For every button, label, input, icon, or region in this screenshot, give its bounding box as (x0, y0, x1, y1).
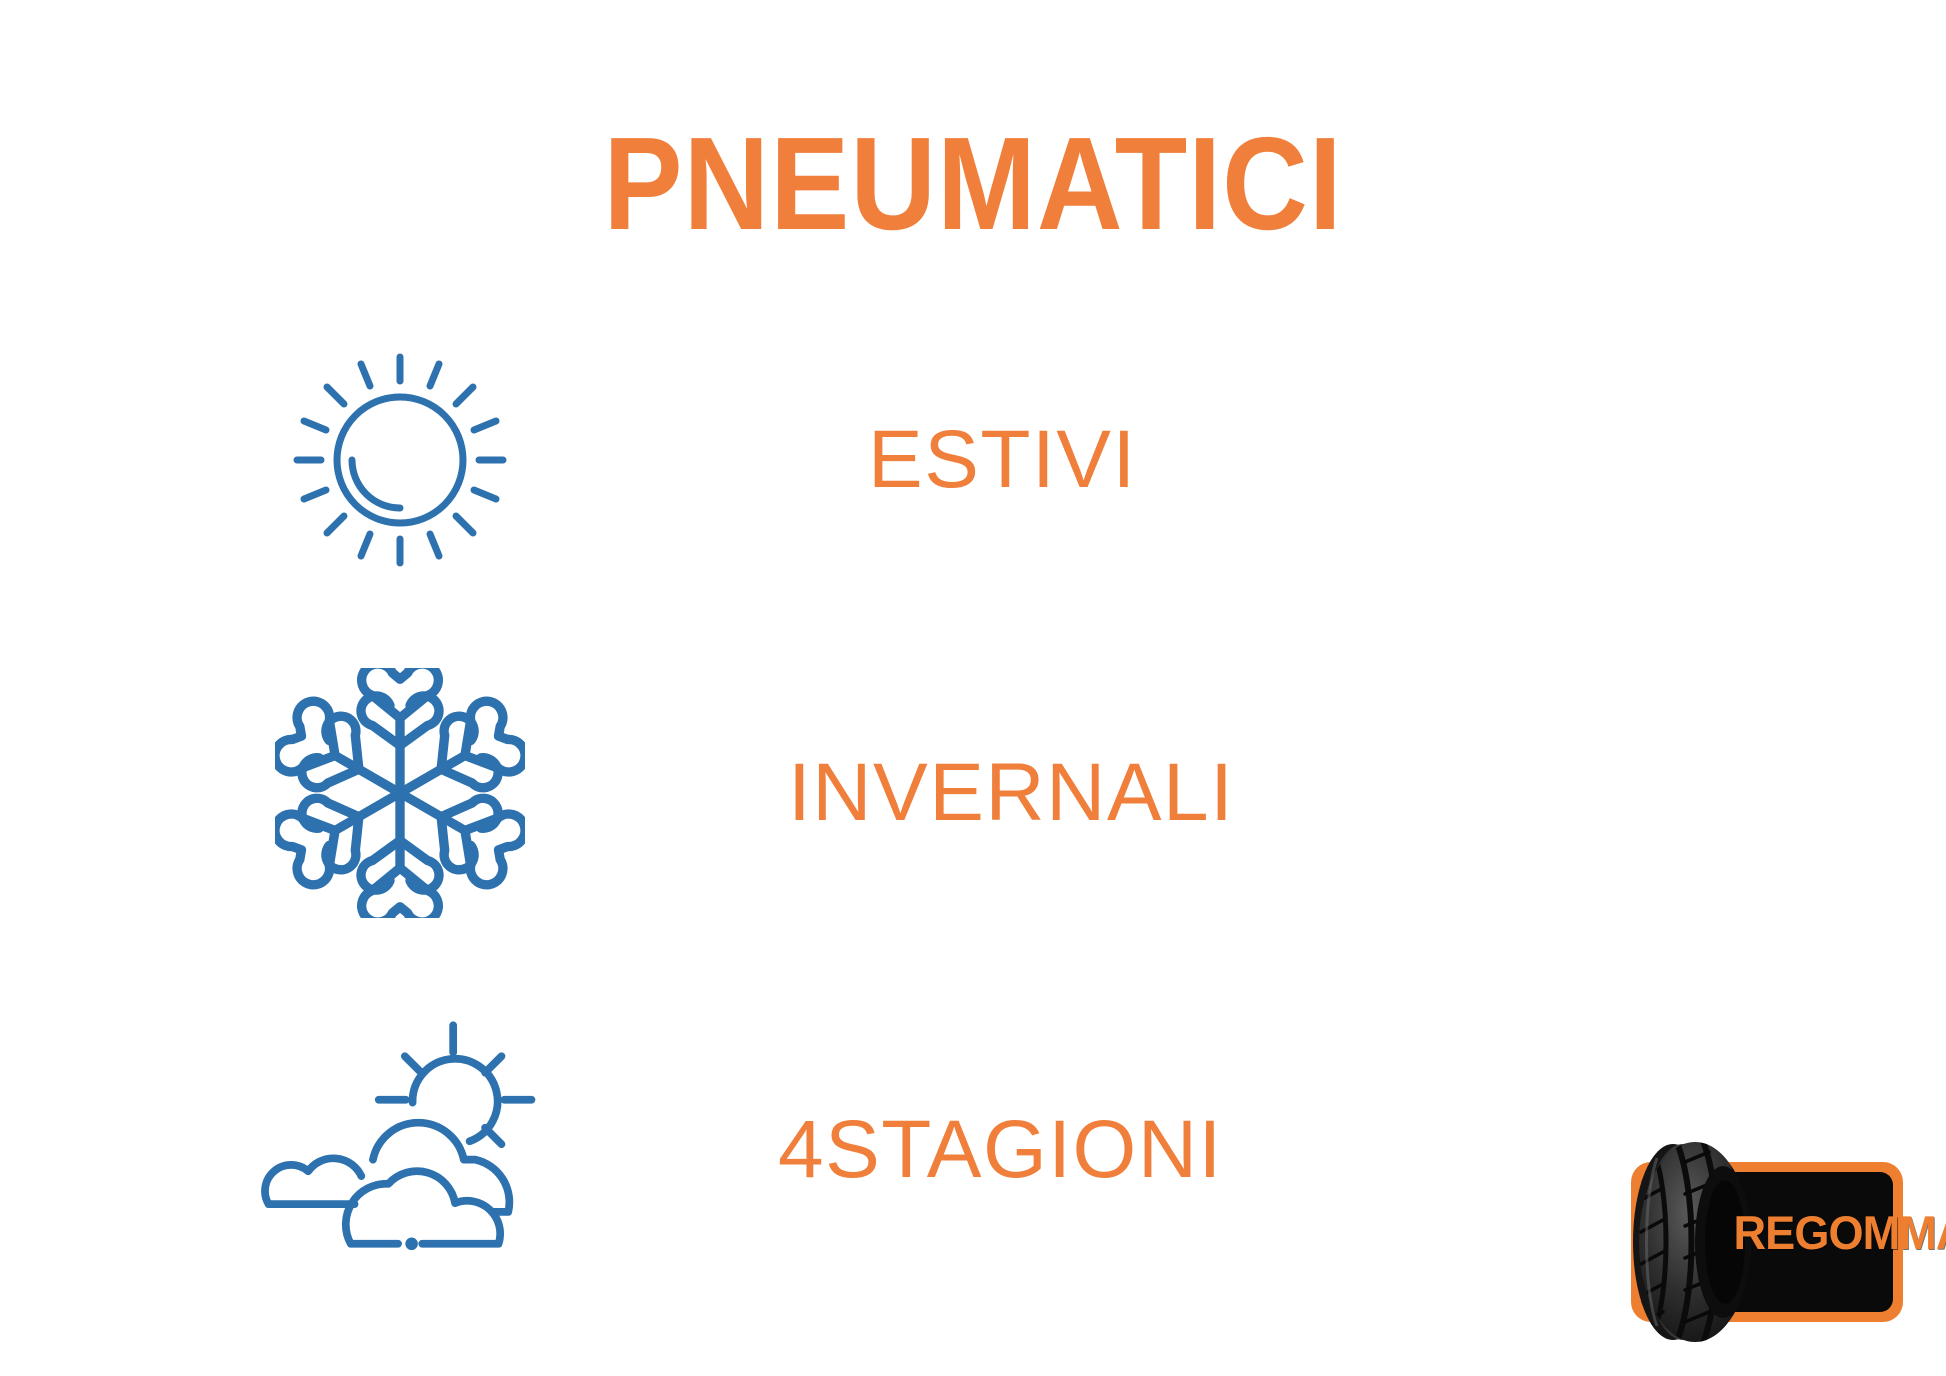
sun-behind-clouds-icon (255, 1005, 545, 1295)
row-label-invernali: INVERNALI (788, 648, 1234, 938)
row-label-estivi: ESTIVI (868, 315, 1137, 605)
regomma-logo[interactable]: REGOMMA (1617, 1128, 1917, 1356)
poster-canvas: PNEUMATICI (0, 0, 1946, 1376)
row-label-stagioni: 4STAGIONI (778, 1005, 1223, 1295)
sun-icon (255, 315, 545, 605)
row-invernali: INVERNALI (0, 648, 1946, 948)
snowflake-icon (255, 648, 545, 938)
page-title: PNEUMATICI (97, 118, 1848, 250)
row-estivi: ESTIVI (0, 315, 1946, 615)
